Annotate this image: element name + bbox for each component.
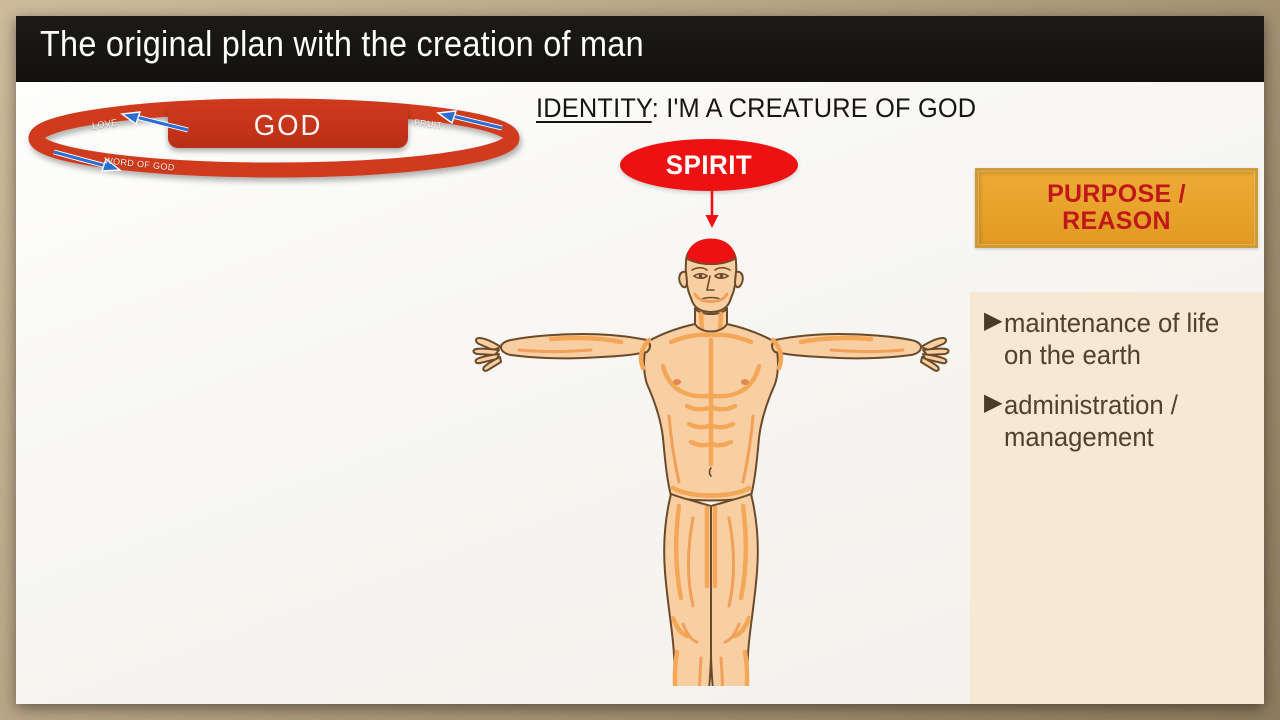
triangle-bullet-icon: ▶ [984, 390, 1002, 417]
list-item: ▶ maintenance of life on the earth [984, 308, 1250, 372]
god-label: GOD [254, 110, 322, 143]
list-item: ▶ administration / management [984, 390, 1250, 454]
triangle-bullet-icon: ▶ [984, 308, 1002, 335]
god-diagram: GOD LOVE [22, 86, 542, 196]
identity-key: IDENTITY [536, 93, 652, 123]
page-title: The original plan with the creation of m… [40, 23, 644, 65]
purpose-header-line-1: PURPOSE / [1047, 181, 1186, 209]
arrow-left-icon-fruit [436, 108, 508, 134]
spirit-label: SPIRIT [666, 150, 752, 181]
purpose-item-text: administration / management [1004, 390, 1237, 454]
identity-statement: IDENTITY: I'M A CREATURE OF GOD [536, 93, 976, 124]
spirit-badge: SPIRIT [620, 139, 798, 191]
title-bar: The original plan with the creation of m… [16, 16, 1264, 82]
purpose-item-text: maintenance of life on the earth [1004, 308, 1237, 372]
arrow-left-icon-love [118, 110, 194, 136]
god-box: GOD [168, 104, 408, 148]
purpose-header-box: PURPOSE / REASON [975, 168, 1258, 248]
slide-frame: The original plan with the creation of m… [0, 0, 1280, 720]
identity-value: I'M A CREATURE OF GOD [666, 93, 976, 123]
purpose-list-panel: ▶ maintenance of life on the earth ▶ adm… [970, 292, 1264, 704]
slide-canvas: The original plan with the creation of m… [16, 16, 1264, 704]
human-figure-illustration: .sk { fill:#f8cfa2; stroke:#6b4a2a; stro… [471, 206, 951, 686]
identity-separator: : [652, 93, 666, 123]
purpose-header-line-2: REASON [1062, 208, 1171, 236]
